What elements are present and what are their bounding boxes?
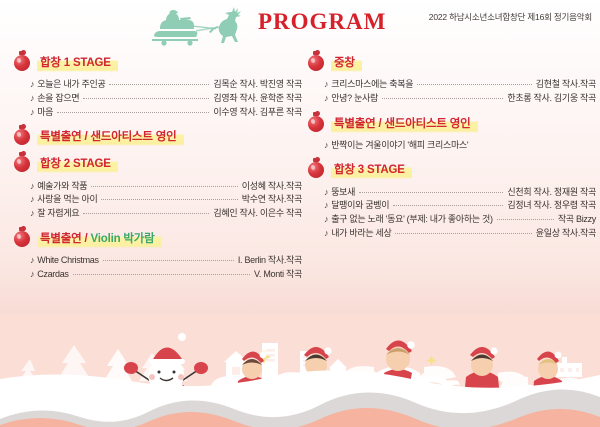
song-credit: 김정녀 작사. 정우령 작곡 xyxy=(507,201,596,210)
music-note-icon: ♪ xyxy=(30,94,34,103)
leader-dots xyxy=(417,84,532,85)
music-note-icon: ♪ xyxy=(30,80,34,89)
page-title: PROGRAM xyxy=(258,9,386,35)
program-column-right: 중창♪크리스마스에는 축복을김현철 작사.작곡♪안녕? 눈사람한초롱 작사. 김… xyxy=(306,50,596,246)
music-note-icon: ♪ xyxy=(324,80,328,89)
music-note-icon: ♪ xyxy=(324,201,328,210)
program-section: 특별출연 / 샌드아티스트 영인♪반짝이는 겨울이야기 '해피 크리스마스' xyxy=(306,111,596,155)
song-credit: 이성혜 작사.작곡 xyxy=(242,182,302,191)
section-header: 특별출연 / 샌드아티스트 영인 xyxy=(306,111,596,135)
song-row: ♪CzardasV. Monti 작곡 xyxy=(30,268,302,282)
song-list: ♪크리스마스에는 축복을김현철 작사.작곡♪안녕? 눈사람한초롱 작사. 김기웅… xyxy=(306,74,596,108)
music-note-icon: ♪ xyxy=(30,270,34,279)
music-note-icon: ♪ xyxy=(30,182,34,191)
song-credit: 박수연 작사.작곡 xyxy=(242,195,302,204)
section-title: 중창 xyxy=(331,52,362,72)
section-header: 합창 2 STAGE xyxy=(12,151,302,175)
program-section: 중창♪크리스마스에는 축복을김현철 작사.작곡♪안녕? 눈사람한초롱 작사. 김… xyxy=(306,50,596,108)
section-title-part: / xyxy=(82,233,91,245)
song-list: ♪White ChristmasI. Berlin 작사.작곡♪CzardasV… xyxy=(12,250,302,284)
leader-dots xyxy=(497,219,554,220)
section-title: 합창 2 STAGE xyxy=(37,153,118,173)
leader-dots xyxy=(382,98,503,99)
section-title-part: 샌드아티스트 영인 xyxy=(385,118,471,130)
song-row: ♪달팽이와 굼벵이김정녀 작사. 정우령 작곡 xyxy=(324,199,596,213)
section-title: 합창 3 STAGE xyxy=(331,159,412,179)
music-note-icon: ♪ xyxy=(324,215,328,224)
song-title: 오늘은 내가 주인공 xyxy=(37,80,105,89)
music-note-icon: ♪ xyxy=(324,188,328,197)
leader-dots xyxy=(91,186,237,187)
program-section: 합창 1 STAGE♪오늘은 내가 주인공김목순 작사. 박진영 작곡♪손을 잡… xyxy=(12,50,302,121)
leader-dots xyxy=(393,205,503,206)
section-title-part: 특별출연 xyxy=(40,131,82,143)
song-title: 반짝이는 겨울이야기 '해피 크리스마스' xyxy=(331,141,468,150)
section-header: 특별출연 / 샌드아티스트 영인 xyxy=(12,124,302,148)
song-credit: I. Berlin 작사.작곡 xyxy=(238,256,302,265)
music-note-icon: ♪ xyxy=(324,141,328,150)
leader-dots xyxy=(109,84,209,85)
song-row: ♪마음이수영 작사. 김푸른 작곡 xyxy=(30,106,302,120)
leader-dots xyxy=(57,112,209,113)
song-title: 뚱보새 xyxy=(331,188,355,197)
christmas-ornament-icon xyxy=(306,158,326,180)
music-note-icon: ♪ xyxy=(30,209,34,218)
section-title: 합창 1 STAGE xyxy=(37,52,118,72)
song-title: 잘 자렴게요 xyxy=(37,209,79,218)
christmas-ornament-icon xyxy=(306,112,326,134)
leader-dots xyxy=(101,199,237,200)
section-title: 특별출연 / Violin 박가람 xyxy=(37,228,162,248)
christmas-ornament-icon xyxy=(306,51,326,73)
section-header: 합창 1 STAGE xyxy=(12,50,302,74)
song-title: White Christmas xyxy=(37,256,99,265)
program-column-left: 합창 1 STAGE♪오늘은 내가 주인공김목순 작사. 박진영 작곡♪손을 잡… xyxy=(12,50,302,287)
section-header: 합창 3 STAGE xyxy=(306,157,596,181)
song-title: 안녕? 눈사람 xyxy=(331,94,378,103)
song-title: 예술가와 작품 xyxy=(37,182,87,191)
song-list: ♪반짝이는 겨울이야기 '해피 크리스마스' xyxy=(306,135,596,155)
song-credit: 김현철 작사.작곡 xyxy=(536,80,596,89)
winter-scene-illustration xyxy=(0,315,600,427)
music-note-icon: ♪ xyxy=(324,94,328,103)
song-title: 내가 바라는 세상 xyxy=(331,229,391,238)
song-credit: 신천희 작사. 정재원 작곡 xyxy=(507,188,596,197)
leader-dots xyxy=(359,192,503,193)
song-row: ♪White ChristmasI. Berlin 작사.작곡 xyxy=(30,254,302,268)
section-title-part: 샌드아티스트 영인 xyxy=(91,131,177,143)
song-credit: 작곡 Bizzy xyxy=(558,215,596,224)
song-row: ♪잘 자렴게요김혜인 작사. 이은수 작곡 xyxy=(30,207,302,221)
leader-dots xyxy=(73,274,250,275)
section-title-part: / xyxy=(82,131,91,143)
song-credit: 윤일상 작사.작곡 xyxy=(536,229,596,238)
santa-sleigh-reindeer-icon xyxy=(140,6,260,46)
music-note-icon: ♪ xyxy=(30,108,34,117)
song-title: Czardas xyxy=(37,270,68,279)
leader-dots xyxy=(395,233,531,234)
concert-subtitle: 2022 하남시소년소녀합창단 제16회 정기음악회 xyxy=(429,11,592,23)
leader-dots xyxy=(103,260,234,261)
christmas-ornament-icon xyxy=(12,125,32,147)
leader-dots xyxy=(83,213,209,214)
music-note-icon: ♪ xyxy=(30,256,34,265)
song-row: ♪예술가와 작품이성혜 작사.작곡 xyxy=(30,179,302,193)
program-poster: PROGRAM 2022 하남시소년소녀합창단 제16회 정기음악회 합창 1 … xyxy=(0,0,600,427)
section-title-part: Violin 박가람 xyxy=(91,233,155,245)
section-title-part: 특별출연 xyxy=(334,118,376,130)
section-title: 특별출연 / 샌드아티스트 영인 xyxy=(37,126,184,146)
song-row: ♪손을 잡으면김영좌 작사. 윤학준 작곡 xyxy=(30,92,302,106)
christmas-ornament-icon xyxy=(12,152,32,174)
song-credit: 김혜인 작사. 이은수 작곡 xyxy=(213,209,302,218)
song-title: 크리스마스에는 축복을 xyxy=(331,80,413,89)
song-row: ♪오늘은 내가 주인공김목순 작사. 박진영 작곡 xyxy=(30,78,302,92)
section-header: 특별출연 / Violin 박가람 xyxy=(12,226,302,250)
song-row: ♪내가 바라는 세상윤일상 작사.작곡 xyxy=(324,227,596,241)
leader-dots xyxy=(83,98,209,99)
christmas-ornament-icon xyxy=(12,51,32,73)
poster-header: PROGRAM 2022 하남시소년소녀합창단 제16회 정기음악회 xyxy=(0,0,600,46)
section-header: 중창 xyxy=(306,50,596,74)
program-section: 합창 2 STAGE♪예술가와 작품이성혜 작사.작곡♪사랑을 먹는 아이박수연… xyxy=(12,151,302,222)
program-section: 특별출연 / 샌드아티스트 영인 xyxy=(12,124,302,148)
section-title: 특별출연 / 샌드아티스트 영인 xyxy=(331,113,478,133)
program-section: 특별출연 / Violin 박가람♪White ChristmasI. Berl… xyxy=(12,226,302,284)
song-title: 달팽이와 굼벵이 xyxy=(331,201,389,210)
song-row: ♪안녕? 눈사람한초롱 작사. 김기웅 작곡 xyxy=(324,92,596,106)
song-row: ♪출구 없는 노래 '동요' (부제: 내가 좋아하는 것)작곡 Bizzy xyxy=(324,213,596,227)
song-credit: 한초롱 작사. 김기웅 작곡 xyxy=(507,94,596,103)
song-credit: 김영좌 작사. 윤학준 작곡 xyxy=(213,94,302,103)
song-list: ♪오늘은 내가 주인공김목순 작사. 박진영 작곡♪손을 잡으면김영좌 작사. … xyxy=(12,74,302,121)
christmas-ornament-icon xyxy=(12,227,32,249)
song-title: 출구 없는 노래 '동요' (부제: 내가 좋아하는 것) xyxy=(331,215,493,224)
music-note-icon: ♪ xyxy=(30,195,34,204)
song-list: ♪뚱보새신천희 작사. 정재원 작곡♪달팽이와 굼벵이김정녀 작사. 정우령 작… xyxy=(306,181,596,242)
music-note-icon: ♪ xyxy=(324,229,328,238)
song-title: 손을 잡으면 xyxy=(37,94,79,103)
program-section: 합창 3 STAGE♪뚱보새신천희 작사. 정재원 작곡♪달팽이와 굼벵이김정녀… xyxy=(306,157,596,242)
song-list: ♪예술가와 작품이성혜 작사.작곡♪사랑을 먹는 아이박수연 작사.작곡♪잘 자… xyxy=(12,175,302,222)
song-title: 마음 xyxy=(37,108,53,117)
section-title-part: 특별출연 xyxy=(40,233,82,245)
song-row: ♪반짝이는 겨울이야기 '해피 크리스마스' xyxy=(324,139,596,153)
song-credit: V. Monti 작곡 xyxy=(254,270,302,279)
song-row: ♪뚱보새신천희 작사. 정재원 작곡 xyxy=(324,185,596,199)
song-row: ♪크리스마스에는 축복을김현철 작사.작곡 xyxy=(324,78,596,92)
song-credit: 이수영 작사. 김푸른 작곡 xyxy=(213,108,302,117)
section-title-part: / xyxy=(376,118,385,130)
program-columns: 합창 1 STAGE♪오늘은 내가 주인공김목순 작사. 박진영 작곡♪손을 잡… xyxy=(0,50,600,318)
song-row: ♪사랑을 먹는 아이박수연 작사.작곡 xyxy=(30,193,302,207)
song-credit: 김목순 작사. 박진영 작곡 xyxy=(213,80,302,89)
song-title: 사랑을 먹는 아이 xyxy=(37,195,97,204)
